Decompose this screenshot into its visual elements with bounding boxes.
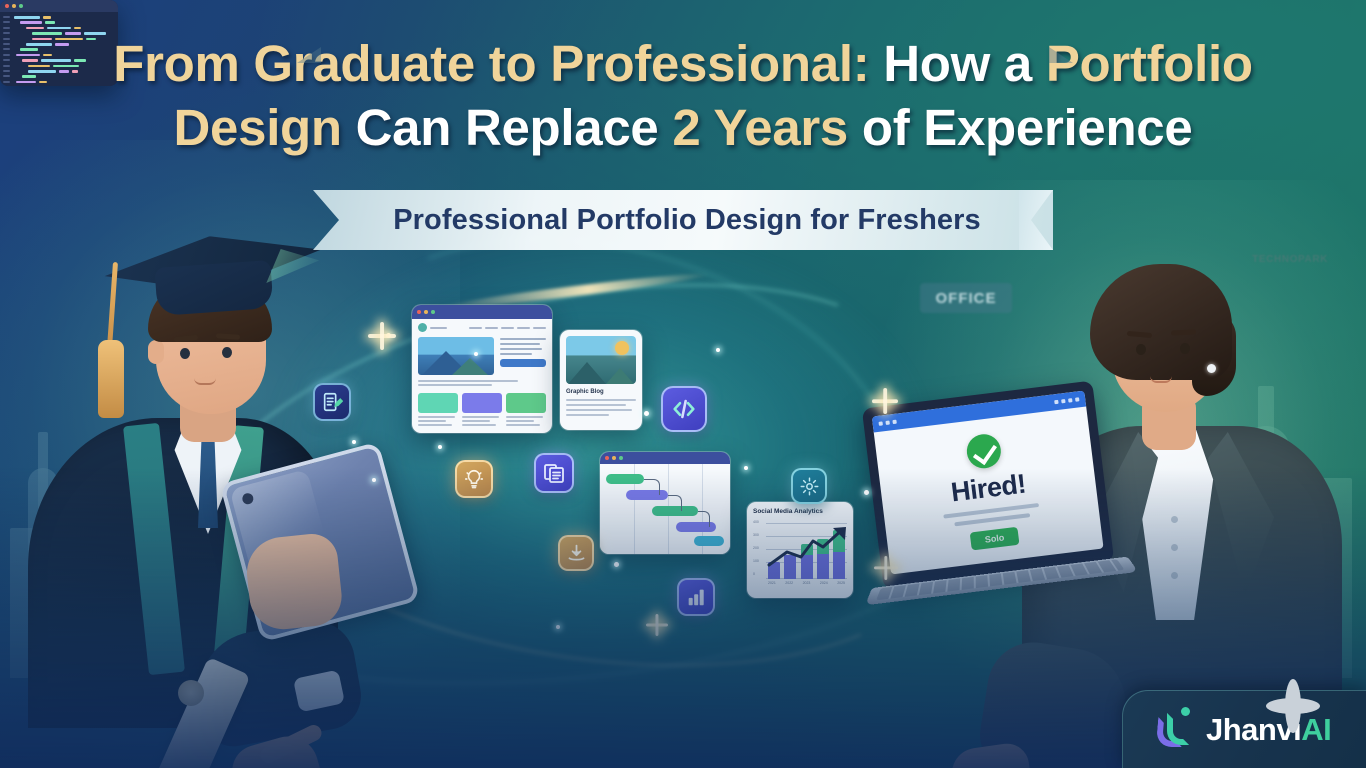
headline-segment: 2 Years bbox=[672, 99, 848, 156]
headline-segment: Design bbox=[174, 99, 342, 156]
y-tick: 400 bbox=[753, 520, 759, 524]
headline-line-1: From Graduate to Professional: How a Por… bbox=[0, 32, 1366, 96]
headline-segment: How a bbox=[883, 35, 1032, 92]
headline-segment: Can Replace bbox=[356, 99, 659, 156]
project-timeline-card[interactable] bbox=[600, 452, 730, 554]
laptop-cta-button[interactable]: Solo bbox=[970, 526, 1019, 550]
subtitle-text: Professional Portfolio Design for Freshe… bbox=[313, 190, 1053, 250]
graphic-blog-card[interactable]: Graphic Blog bbox=[560, 330, 642, 430]
timeline-titlebar bbox=[600, 452, 730, 464]
headline-segment: From Graduate to Professional: bbox=[113, 35, 869, 92]
laptop-device[interactable]: Hired! Solo bbox=[862, 381, 1114, 590]
website-portfolio-mockup-card[interactable] bbox=[412, 305, 552, 433]
headline-segment: Portfolio bbox=[1046, 35, 1253, 92]
y-tick: 300 bbox=[753, 533, 759, 537]
sparkle bbox=[716, 348, 720, 352]
sparkle-star-icon bbox=[646, 614, 668, 636]
bar-chart-icon[interactable] bbox=[677, 578, 715, 616]
document-edit-icon[interactable] bbox=[313, 383, 351, 421]
x-tick: 2022 bbox=[785, 581, 793, 585]
sparkle bbox=[744, 466, 748, 470]
social-media-analytics-card[interactable]: Social Media Analytics 400 300 200 100 0 bbox=[747, 502, 853, 598]
documents-stack-icon[interactable] bbox=[534, 453, 574, 493]
blog-thumbnail bbox=[566, 336, 636, 384]
jhanvi-j-monogram-icon bbox=[1153, 707, 1195, 753]
code-brackets-icon[interactable] bbox=[661, 386, 707, 432]
subtitle-ribbon: Professional Portfolio Design for Freshe… bbox=[313, 190, 1053, 250]
x-tick: 2023 bbox=[803, 581, 811, 585]
sparkle bbox=[556, 625, 560, 629]
gear-settings-icon[interactable] bbox=[791, 468, 827, 504]
headline-line-2: Design Can Replace 2 Years of Experience bbox=[0, 96, 1366, 160]
sparkle bbox=[438, 445, 442, 449]
x-tick-labels: 2021 2022 2023 2024 2025 bbox=[753, 579, 847, 585]
blog-card-title: Graphic Blog bbox=[566, 389, 636, 395]
code-titlebar bbox=[0, 0, 118, 12]
trend-arrow-icon bbox=[767, 525, 851, 571]
x-tick: 2021 bbox=[768, 581, 776, 585]
sparkle-star-icon bbox=[872, 388, 898, 414]
gantt-chart bbox=[600, 464, 730, 554]
sparkle bbox=[614, 562, 619, 567]
brand-logo[interactable]: JhanviAI bbox=[1122, 690, 1366, 768]
mockup-titlebar bbox=[412, 305, 552, 319]
check-circle-icon bbox=[965, 432, 1003, 470]
hero-banner: OFFICE TECHNOPARK bbox=[0, 0, 1366, 768]
x-tick: 2024 bbox=[820, 581, 828, 585]
y-tick: 200 bbox=[753, 546, 759, 550]
x-tick: 2025 bbox=[837, 581, 845, 585]
analytics-bar-chart: 400 300 200 100 0 bbox=[753, 519, 847, 579]
headline-segment: of Experience bbox=[862, 99, 1193, 156]
download-icon[interactable] bbox=[558, 535, 594, 571]
sparkle-star-icon bbox=[368, 322, 396, 350]
y-tick: 0 bbox=[753, 572, 755, 576]
sparkle-star-icon bbox=[1266, 679, 1320, 733]
lightbulb-icon[interactable] bbox=[455, 460, 493, 498]
graduate-hand bbox=[243, 531, 344, 632]
sparkle bbox=[644, 411, 649, 416]
sparkle bbox=[474, 352, 478, 356]
chart-title: Social Media Analytics bbox=[753, 508, 847, 515]
sparkle-star-icon bbox=[874, 556, 898, 580]
hired-heading: Hired! bbox=[949, 468, 1027, 508]
sparkle bbox=[372, 478, 376, 482]
y-tick: 100 bbox=[753, 559, 759, 563]
sparkle bbox=[352, 440, 356, 444]
page-title: From Graduate to Professional: How a Por… bbox=[0, 32, 1366, 161]
sparkle bbox=[864, 490, 869, 495]
